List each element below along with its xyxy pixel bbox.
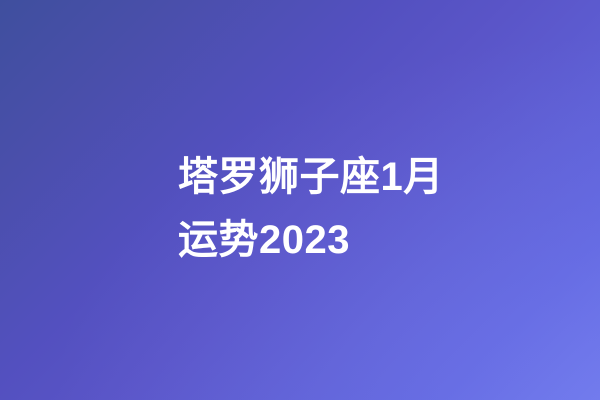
banner-title: 塔罗狮子座1月 运势2023 bbox=[178, 146, 558, 272]
banner-title-line-2: 运势2023 bbox=[178, 209, 558, 272]
banner-title-line-1: 塔罗狮子座1月 bbox=[178, 146, 558, 209]
title-banner: 塔罗狮子座1月 运势2023 bbox=[0, 0, 600, 400]
